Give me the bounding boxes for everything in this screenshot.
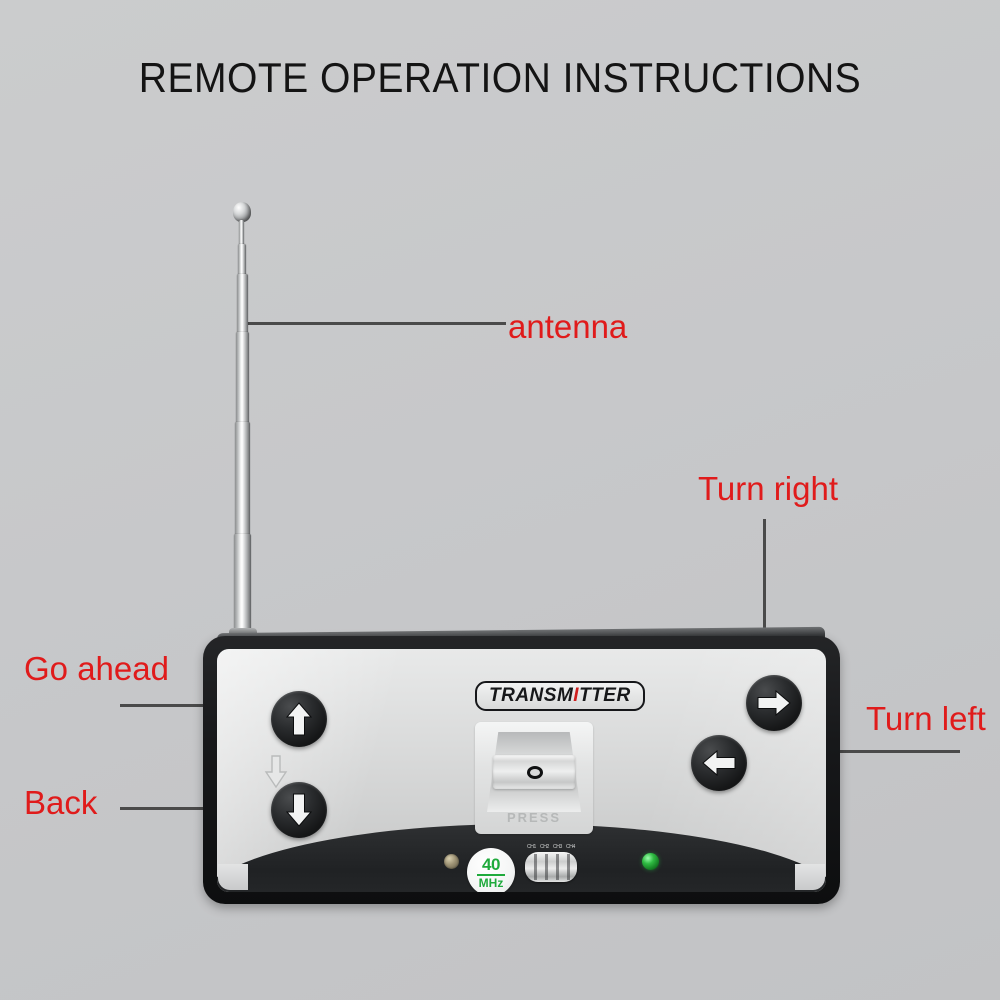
instruction-diagram: REMOTE OPERATION INSTRUCTIONS antenna Tu…	[0, 0, 1000, 1000]
callout-label-turn-right: Turn right	[698, 470, 838, 508]
dip-label-1: CH1	[527, 844, 536, 850]
button-back[interactable]	[271, 782, 327, 838]
badge-text-before: TRANSM	[489, 685, 573, 706]
antenna-segment-4	[236, 332, 249, 430]
dip-notch-2	[545, 854, 548, 880]
callout-label-turn-left: Turn left	[866, 700, 986, 738]
device-foot-right	[795, 864, 825, 890]
button-turn-right[interactable]	[746, 675, 802, 731]
leader-line-antenna	[243, 322, 506, 325]
arrow-up-icon	[286, 702, 312, 736]
badge-text-after: TTER	[579, 685, 631, 706]
page-title: REMOTE OPERATION INSTRUCTIONS	[35, 54, 965, 102]
throttle-knob[interactable]	[527, 766, 543, 779]
arrow-right-icon	[757, 690, 791, 716]
callout-label-go-ahead: Go ahead	[24, 650, 169, 688]
transmitter-badge-text: TRANSMITTER	[489, 686, 631, 705]
frequency-sticker: 40 MHz	[467, 848, 515, 892]
case-screw	[444, 854, 459, 869]
dip-switch-bank[interactable]	[525, 852, 577, 882]
device-face-panel: TRANSMITTER	[217, 649, 826, 892]
dip-notch-3	[556, 854, 559, 880]
antenna-segment-5	[235, 422, 250, 542]
transmitter-device: TRANSMITTER	[203, 636, 840, 904]
frequency-value: 40	[482, 856, 500, 873]
transmitter-badge: TRANSMITTER	[475, 681, 645, 711]
dip-notch-1	[534, 854, 537, 880]
power-led-indicator	[642, 853, 659, 870]
button-go-ahead[interactable]	[271, 691, 327, 747]
arrow-left-icon	[702, 750, 736, 776]
dip-label-2: CH2	[540, 844, 549, 850]
dip-label-3: CH3	[553, 844, 562, 850]
frequency-unit: MHz	[479, 877, 504, 889]
press-label: PRESS	[475, 810, 593, 825]
arrow-down-icon	[286, 793, 312, 827]
button-turn-left[interactable]	[691, 735, 747, 791]
dip-notch-4	[567, 854, 570, 880]
antenna-tip-ball	[233, 202, 251, 222]
device-foot-left	[218, 864, 248, 890]
callout-label-antenna: antenna	[508, 308, 627, 346]
telescopic-antenna[interactable]	[224, 200, 258, 648]
arrow-down-outline-icon	[264, 754, 288, 788]
callout-label-back: Back	[24, 784, 97, 822]
antenna-segment-3	[237, 274, 248, 340]
throttle-control-well[interactable]: PRESS	[475, 722, 593, 834]
dip-switch-labels: CH1 CH2 CH3 CH4	[525, 844, 577, 850]
dip-label-4: CH4	[566, 844, 575, 850]
